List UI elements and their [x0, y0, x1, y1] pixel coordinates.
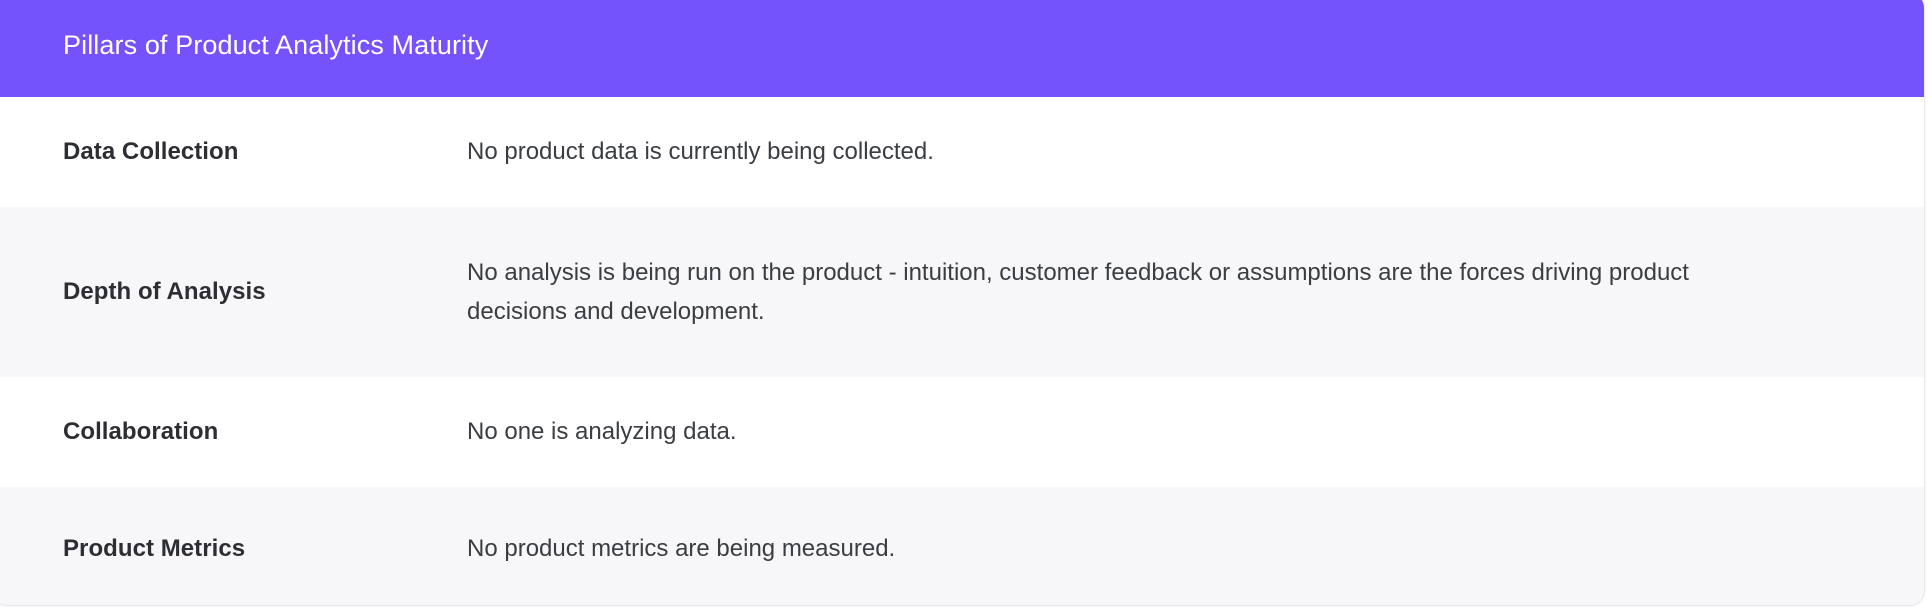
pillar-description: No one is analyzing data.	[467, 412, 1717, 451]
card-header: Pillars of Product Analytics Maturity	[0, 0, 1924, 97]
table-row: Data Collection No product data is curre…	[0, 97, 1924, 207]
pillar-description: No product data is currently being colle…	[467, 132, 1717, 171]
pillar-label: Depth of Analysis	[63, 278, 467, 306]
table-row: Depth of Analysis No analysis is being r…	[0, 207, 1924, 377]
page-title: Pillars of Product Analytics Maturity	[63, 29, 488, 61]
table-row: Collaboration No one is analyzing data.	[0, 377, 1924, 487]
pillar-label: Product Metrics	[63, 535, 467, 563]
pillar-label: Data Collection	[63, 138, 467, 166]
pillars-card: Pillars of Product Analytics Maturity Da…	[0, 0, 1925, 606]
pillar-description: No analysis is being run on the product …	[467, 253, 1717, 331]
table-row: Product Metrics No product metrics are b…	[0, 487, 1924, 606]
pillar-description: No product metrics are being measured.	[467, 529, 1717, 568]
pillar-label: Collaboration	[63, 418, 467, 446]
